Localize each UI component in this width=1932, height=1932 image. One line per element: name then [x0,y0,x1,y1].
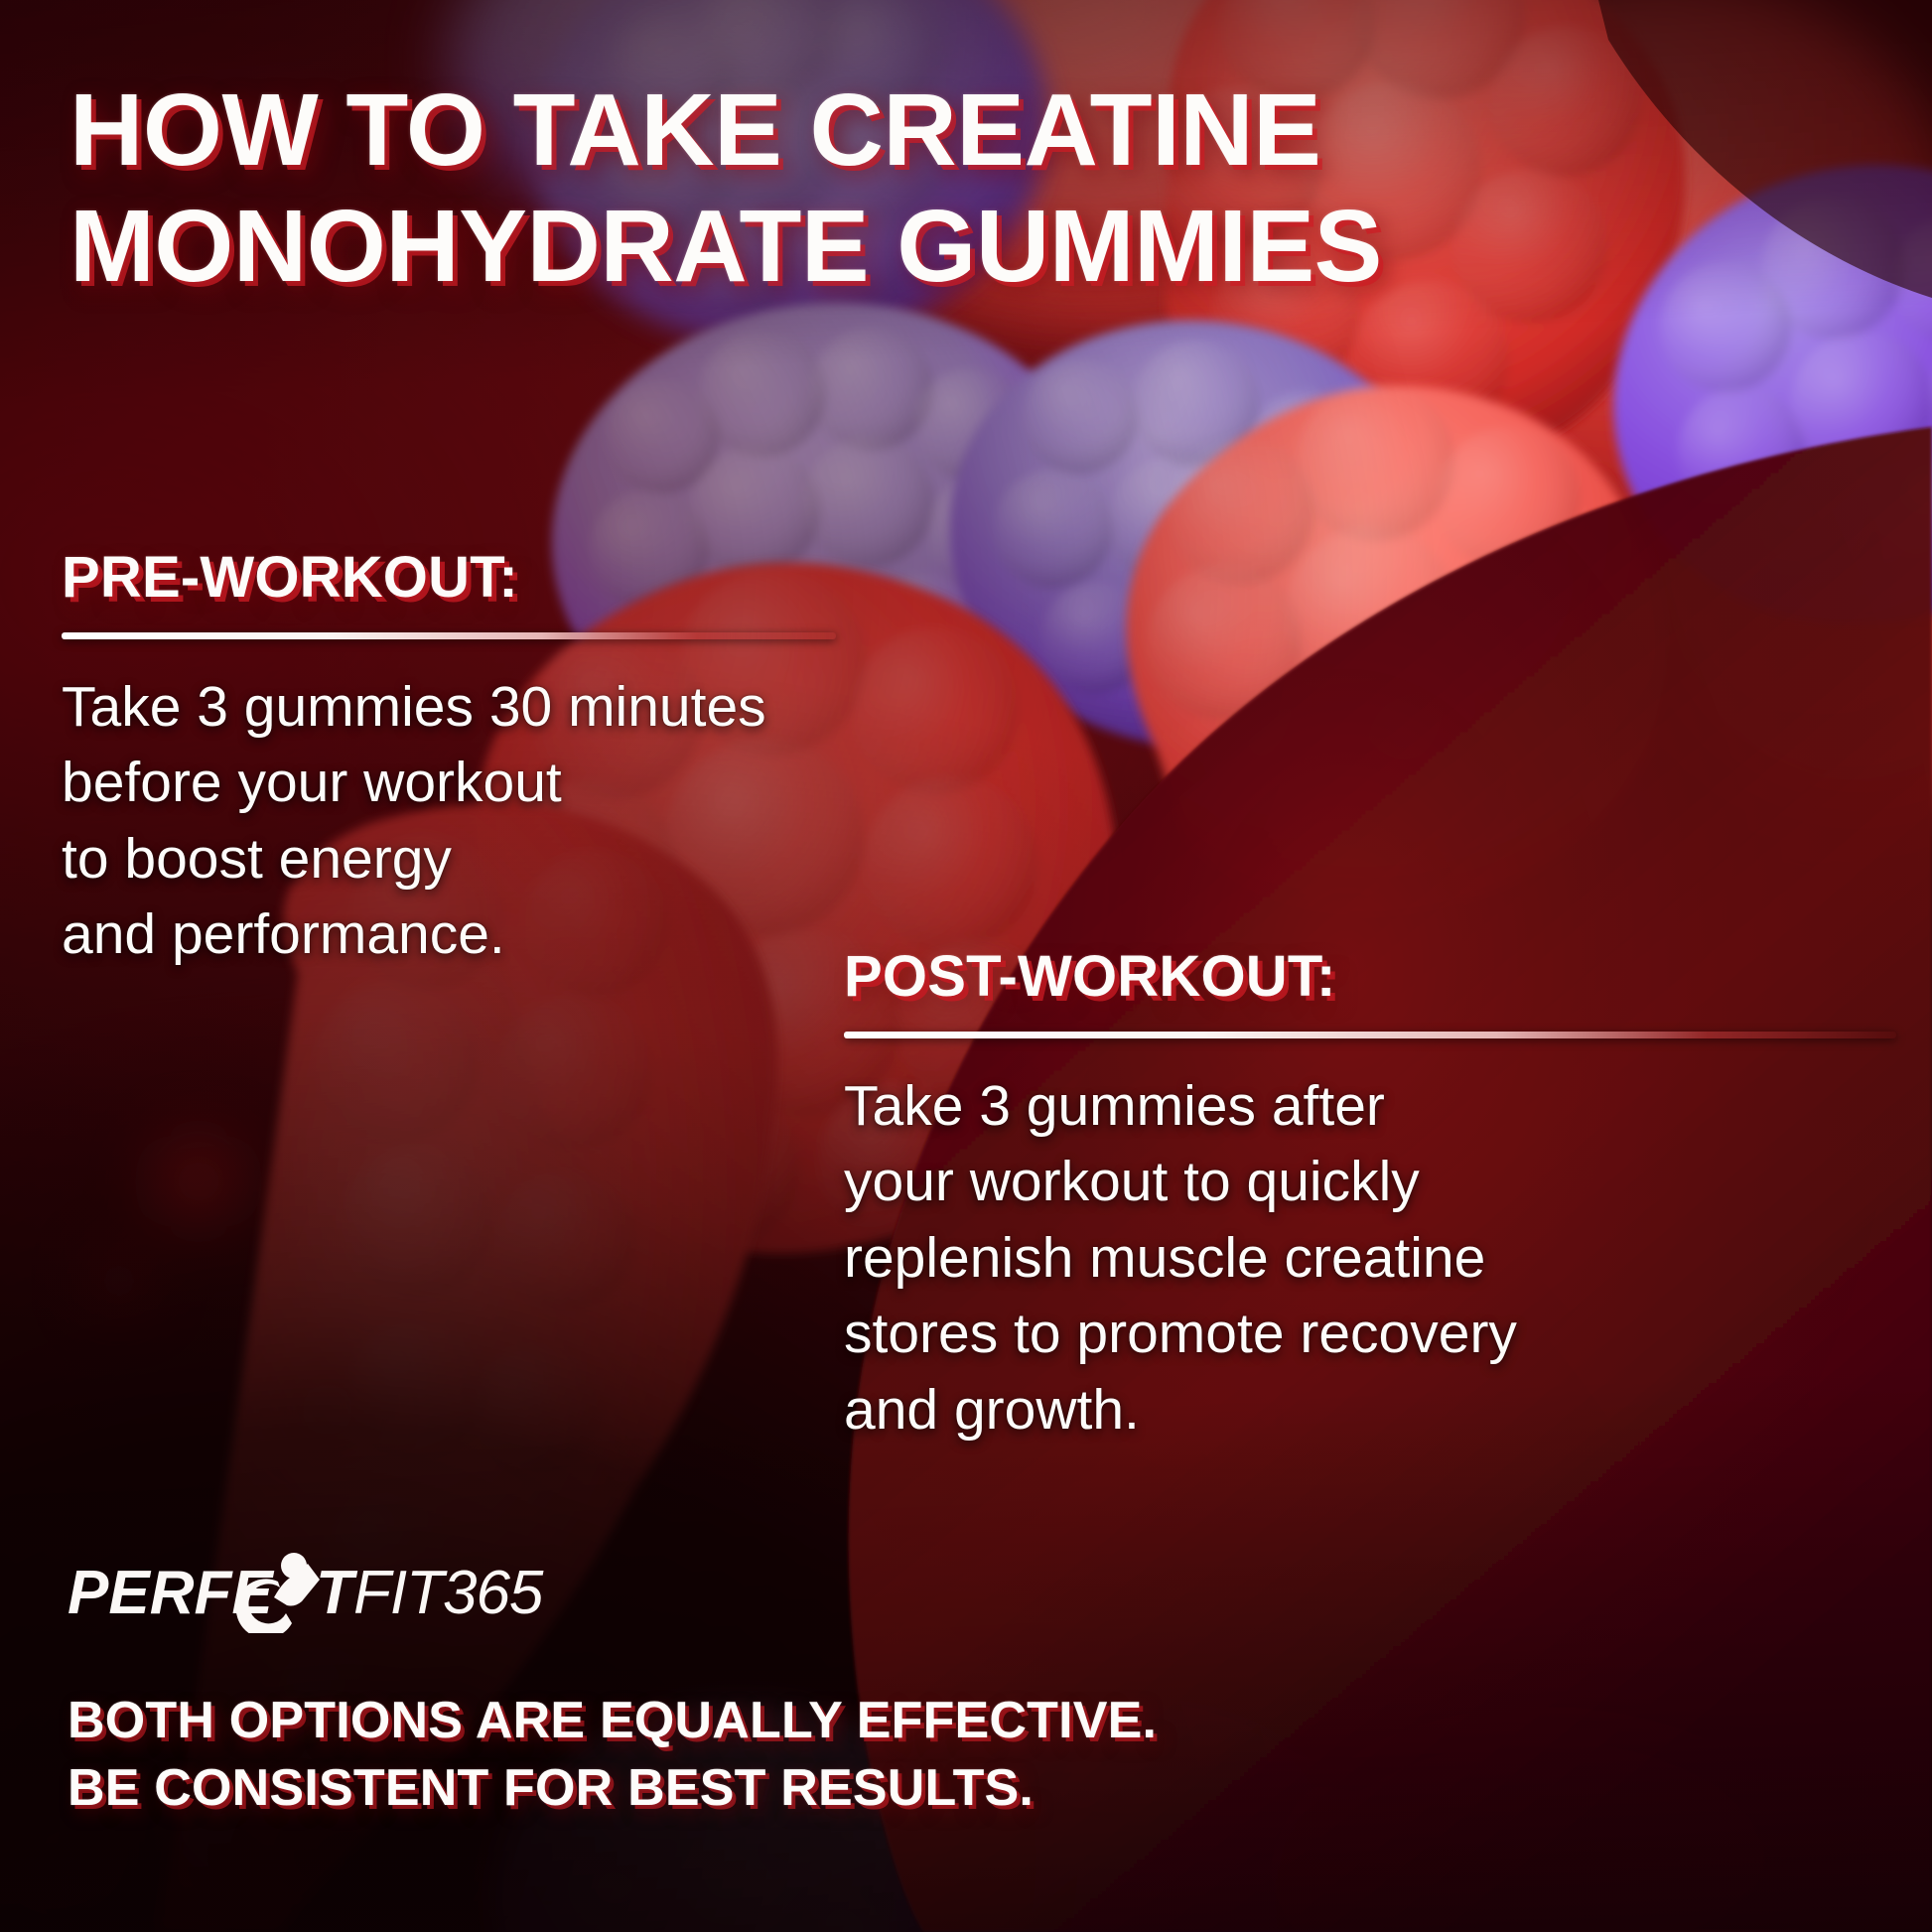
post-body-line-5: and growth. [844,1372,1896,1448]
post-workout-divider [844,1032,1896,1038]
title-line-2: MONOHYDRATE GUMMIES [69,188,1519,304]
logo-text-fit365: FIT365 [353,1559,544,1627]
infographic-canvas: HOW TO TAKE CREATINE MONOHYDRATE GUMMIES… [0,0,1932,1932]
logo-text-t: T [316,1559,358,1627]
pre-body-line-4: and performance. [62,897,836,972]
brand-logo: PERFE T FIT365 [68,1552,584,1629]
post-body-line-2: your workout to quickly [844,1144,1896,1219]
pre-workout-heading: PRE-WORKOUT: [62,544,836,611]
pre-workout-body: Take 3 gummies 30 minutes before your wo… [62,669,836,973]
post-body-line-3: replenish muscle creatine [844,1220,1896,1296]
pre-body-line-2: before your workout [62,745,836,820]
post-workout-body: Take 3 gummies after your workout to qui… [844,1068,1896,1448]
post-workout-section: POST-WORKOUT: Take 3 gummies after your … [844,943,1896,1448]
post-body-line-1: Take 3 gummies after [844,1068,1896,1144]
pre-workout-divider [62,632,836,639]
pre-body-line-1: Take 3 gummies 30 minutes [62,669,836,745]
pre-body-line-3: to boost energy [62,821,836,897]
title-line-1: HOW TO TAKE CREATINE [69,71,1519,188]
post-body-line-4: stores to promote recovery [844,1296,1896,1371]
page-title: HOW TO TAKE CREATINE MONOHYDRATE GUMMIES [69,71,1519,305]
footer-line-2: BE CONSISTENT FOR BEST RESULTS. [68,1755,1557,1823]
footer-line-1: BOTH OPTIONS ARE EQUALLY EFFECTIVE. [68,1688,1557,1755]
footer-tagline: BOTH OPTIONS ARE EQUALLY EFFECTIVE. BE C… [68,1688,1557,1822]
post-workout-heading: POST-WORKOUT: [844,943,1896,1010]
pre-workout-section: PRE-WORKOUT: Take 3 gummies 30 minutes b… [62,544,836,973]
